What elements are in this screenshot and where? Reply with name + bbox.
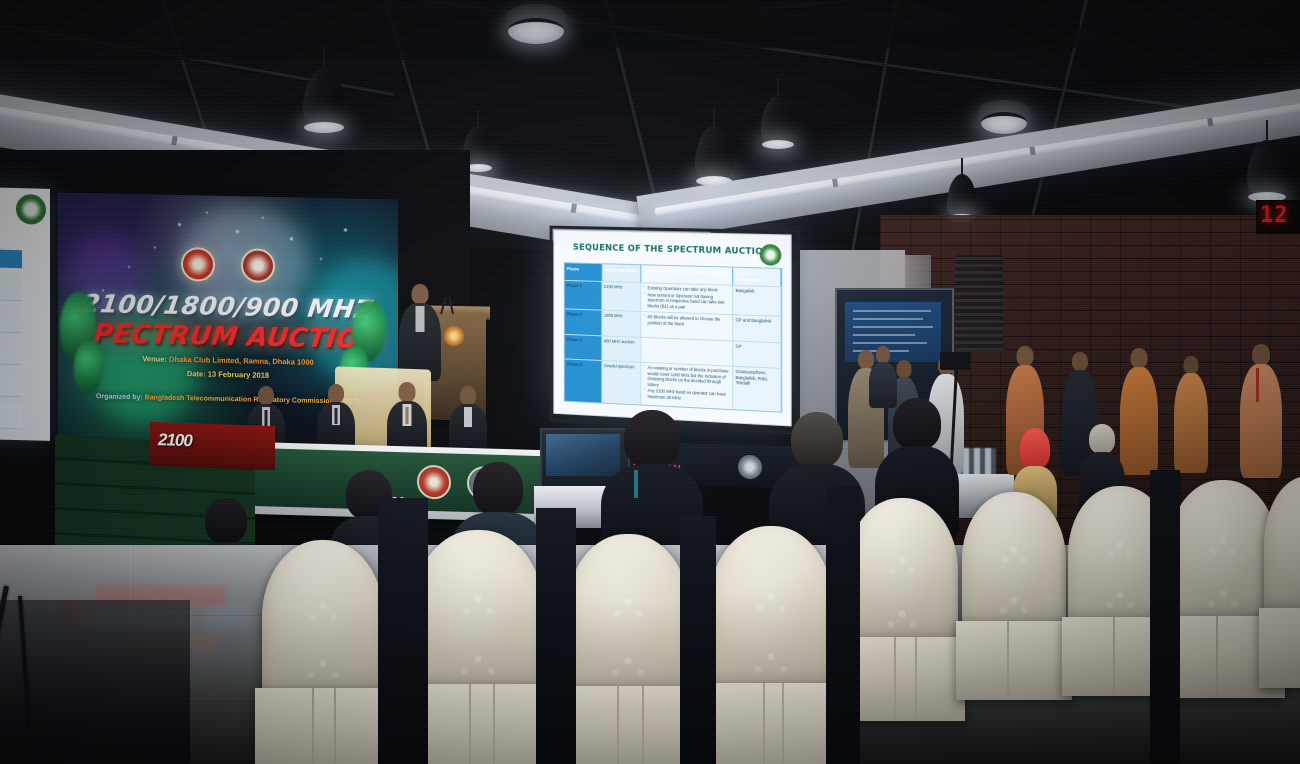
led-clock-display: 12 <box>1256 200 1300 234</box>
foreground-silhouette-5 <box>1150 470 1180 764</box>
cell-band: 1800 MHz <box>602 311 642 337</box>
audience-chair[interactable] <box>412 530 544 764</box>
person-shirt <box>416 306 425 332</box>
person-head <box>624 410 680 468</box>
cell-phase: Phase 3 <box>565 335 602 361</box>
chair-skirt <box>255 688 392 764</box>
bangladesh-government-emblem-icon <box>181 247 215 282</box>
cone-pendant-lamp-icon <box>761 96 795 146</box>
rule-bullet: New entrant or Operator not having spect… <box>644 292 731 311</box>
person-head <box>1252 344 1270 365</box>
chair-back <box>1264 476 1300 620</box>
ceiling-flush-light-1 <box>508 18 564 44</box>
slide-table-body: Phase 1 2100 MHz Existing Operators can … <box>565 280 782 411</box>
btrc-logo-icon <box>760 244 782 266</box>
person-tie <box>265 410 268 426</box>
cell-band: Unsold spectrum <box>602 361 642 404</box>
stage-red-banner-text: 2100 <box>158 430 192 451</box>
secondary-projection-screen <box>0 187 50 441</box>
stage-red-banner: 2100 <box>150 422 275 470</box>
person-shirt <box>464 407 472 427</box>
person-head <box>258 386 274 405</box>
attendee-standing-7 <box>1238 344 1284 480</box>
audience-chair[interactable] <box>566 534 690 764</box>
banner-headline-auction: SPECTRUM AUCTION <box>72 319 383 355</box>
banner-headline-frequencies: 2100/1800/900 MHZ <box>81 289 376 324</box>
person-head <box>1017 346 1034 366</box>
chair-skirt <box>956 621 1072 699</box>
speaker-at-podium <box>398 284 442 380</box>
video-camera-icon <box>940 352 970 370</box>
lanyard-icon <box>1256 368 1259 402</box>
banner-date-value: 13 February 2018 <box>208 370 269 380</box>
column-header-participants: Eligible Participants <box>734 268 782 287</box>
person-head <box>1131 348 1148 368</box>
lamp-rim <box>762 140 794 149</box>
person-head <box>876 346 890 363</box>
foreground-silhouette-3 <box>680 516 716 764</box>
chair-skirt <box>700 683 841 764</box>
btrc-emblem-icon <box>241 248 275 283</box>
foreground-silhouette-6 <box>0 600 190 764</box>
cell-phase: Phase 4 <box>565 360 602 403</box>
secondary-slide-row <box>0 368 22 397</box>
person-head <box>791 412 843 468</box>
attendee-standing-8 <box>1172 356 1210 476</box>
audience-chair[interactable] <box>962 492 1066 688</box>
person-head <box>1089 424 1115 454</box>
person-head <box>328 384 344 403</box>
foreground-silhouette-2 <box>536 508 576 764</box>
person-head <box>897 360 912 378</box>
pendant-lamp-1 <box>300 48 348 138</box>
person-head <box>473 462 523 516</box>
cell-participants: Grameenphone, Banglalink, Robi, Teletalk <box>734 367 782 412</box>
event-photo-scene: 12 2100/1800/900 MHZ SPECTRUM AUCTION <box>0 0 1300 764</box>
podium-emblem-icon <box>444 326 464 346</box>
lamp-rim <box>696 176 732 186</box>
banner-emblems <box>181 247 275 283</box>
person-head <box>460 386 476 405</box>
person-torso <box>1240 364 1282 478</box>
cell-phase: Phase 2 <box>565 310 602 336</box>
secondary-slide-row <box>0 272 22 301</box>
head-table-official-4 <box>448 386 488 456</box>
slide-table: Phase Spectrum Band Number of Blocks an … <box>564 262 783 413</box>
cell-rules: Existing Operators can take any block Ne… <box>642 284 734 315</box>
banner-date-line: Date: 13 February 2018 <box>187 369 269 380</box>
led-clock-value: 12 <box>1260 203 1289 228</box>
rule-bullet: B0 Blocks will be allowed to choose the … <box>644 314 731 328</box>
column-header-band: Spectrum Band <box>602 264 642 282</box>
pendant-lamp-6 <box>1244 120 1290 212</box>
cell-participants: GP and Banglalink <box>734 315 782 342</box>
attendee-standing-3 <box>868 346 898 406</box>
person-head <box>1184 356 1199 374</box>
person-head <box>205 498 247 544</box>
cone-pendant-lamp-icon <box>1247 140 1287 198</box>
cell-phase: Phase 1 <box>565 281 602 310</box>
rule-bullet: An existing or number of blocks in purch… <box>644 365 731 391</box>
btrc-logo-icon <box>16 194 46 225</box>
window-blind <box>955 255 1003 351</box>
lamp-rim <box>304 122 344 133</box>
cell-participants: GP <box>734 341 782 368</box>
cell-band: 2100 MHz <box>602 282 642 311</box>
audience-chair[interactable] <box>1264 476 1300 676</box>
banner-venue-label: Venue <box>142 354 164 363</box>
chair-skirt <box>1259 608 1300 688</box>
secondary-slide-row <box>0 400 22 429</box>
ceiling-flush-light-2 <box>981 112 1027 134</box>
person-tie <box>335 408 338 424</box>
cone-pendant-lamp-icon <box>303 68 345 128</box>
cell-rules: B0 Blocks will be allowed to choose the … <box>642 312 734 340</box>
chair-skirt <box>559 686 698 764</box>
secondary-slide-row <box>0 304 22 333</box>
banner-organizer-prefix: Organized by <box>96 393 140 401</box>
cell-participants: Bangalink <box>734 286 782 316</box>
pendant-lamp-4 <box>758 78 798 158</box>
audience-chair[interactable] <box>708 526 834 764</box>
person-head <box>1072 352 1088 371</box>
person-head-scarf <box>1020 428 1050 468</box>
table-row: Phase 4 Unsold spectrum An existing or n… <box>565 359 782 412</box>
audience-chair[interactable] <box>846 498 958 708</box>
slide-title: SEQUENCE OF THE SPECTRUM AUCTION <box>554 242 790 258</box>
head-table-official-3 <box>386 382 428 456</box>
cell-band: 900 MHz auction <box>602 336 642 362</box>
person-head <box>893 398 941 450</box>
foreground-silhouette-1 <box>378 498 428 764</box>
foreground-silhouette-4 <box>826 486 860 764</box>
pendant-lamp-2 <box>692 108 736 194</box>
lanyard-icon <box>634 470 638 498</box>
cone-pendant-lamp-icon <box>695 126 733 182</box>
person-head <box>399 382 416 402</box>
secondary-slide-header <box>0 248 22 268</box>
cell-rules: An existing or number of blocks in purch… <box>642 363 734 409</box>
audience-chair[interactable] <box>262 540 384 764</box>
person-torso <box>1174 373 1208 473</box>
main-projection-screen: SEQUENCE OF THE SPECTRUM AUCTION Phase S… <box>553 230 791 427</box>
banner-date-label: Date <box>187 369 203 378</box>
secondary-slide-row <box>0 336 22 365</box>
person-tie <box>406 407 409 424</box>
person-head <box>412 284 429 304</box>
column-header-phase: Phase <box>565 263 602 281</box>
bangladesh-emblem-icon <box>417 465 451 500</box>
